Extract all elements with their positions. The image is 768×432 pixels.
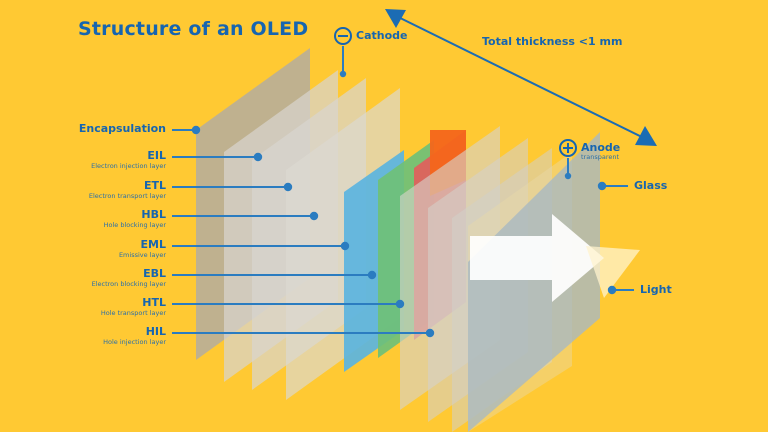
anode-sublabel: transparent — [581, 153, 619, 161]
glass-label: Glass — [634, 180, 667, 192]
thickness-label: Total thickness <1 mm — [482, 35, 622, 48]
layer-label-hbl: HBL Hole blocking layer — [104, 209, 166, 230]
layer-label-eil: EIL Electron injection layer — [91, 150, 166, 171]
cathode-label: Cathode — [356, 29, 407, 42]
oled-diagram: Structure of an OLED Total thickness <1 … — [0, 0, 768, 432]
layer-label-etl: ETL Electron transport layer — [89, 180, 166, 201]
layer-label-encapsulation: Encapsulation — [79, 123, 166, 135]
thickness-arrow — [385, 9, 657, 146]
glass-leader — [599, 183, 628, 189]
light-leader — [609, 287, 634, 293]
cathode-marker — [335, 28, 351, 77]
layer-label-hil: HIL Hole injection layer — [103, 326, 166, 347]
light-label: Light — [640, 284, 672, 296]
layer-label-eml: EML Emissive layer — [119, 239, 166, 260]
layer-label-htl: HTL Hole transport layer — [101, 297, 166, 318]
layer-label-ebl: EBL Electron blocking layer — [92, 268, 166, 289]
page-title: Structure of an OLED — [78, 18, 308, 40]
